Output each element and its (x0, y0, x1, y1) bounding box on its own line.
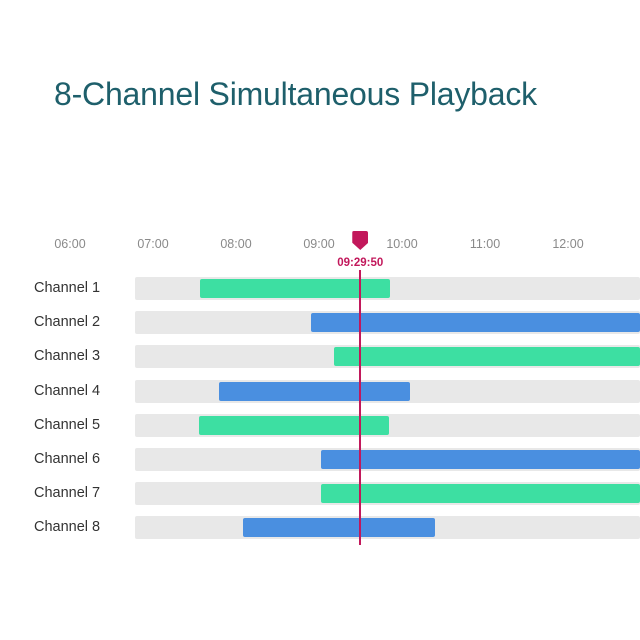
channel-row[interactable]: Channel 4 (0, 377, 640, 407)
recording-segment[interactable] (334, 347, 640, 366)
channel-row[interactable]: Channel 6 (0, 445, 640, 475)
channel-label: Channel 1 (34, 280, 100, 296)
channel-label: Channel 5 (34, 417, 100, 433)
channel-row[interactable]: Channel 2 (0, 308, 640, 338)
channel-label: Channel 3 (34, 348, 100, 364)
recording-segment[interactable] (200, 279, 390, 298)
timeline-chart: 06:0007:0008:0009:0010:0011:0012:00 09:2… (0, 0, 640, 640)
channel-label: Channel 2 (34, 314, 100, 330)
playhead-line[interactable] (359, 270, 361, 545)
time-tick-label: 09:00 (303, 237, 334, 251)
playhead-marker-icon[interactable] (352, 231, 368, 250)
recording-segment[interactable] (243, 518, 436, 537)
playhead-time-label: 09:29:50 (337, 257, 383, 269)
recording-segment[interactable] (321, 450, 640, 469)
channel-row[interactable]: Channel 7 (0, 479, 640, 509)
channel-row[interactable]: Channel 5 (0, 411, 640, 441)
playhead-shield-shape (352, 231, 368, 250)
channel-label: Channel 7 (34, 485, 100, 501)
channel-label: Channel 8 (34, 519, 100, 535)
time-tick-label: 06:00 (54, 237, 85, 251)
channel-row[interactable]: Channel 3 (0, 342, 640, 372)
channel-row[interactable]: Channel 1 (0, 274, 640, 304)
time-tick-label: 08:00 (220, 237, 251, 251)
recording-segment[interactable] (219, 382, 411, 401)
time-tick-label: 10:00 (386, 237, 417, 251)
channel-label: Channel 6 (34, 451, 100, 467)
time-tick-label: 12:00 (552, 237, 583, 251)
recording-segment[interactable] (321, 484, 640, 503)
playback-timeline-panel: 8-Channel Simultaneous Playback 06:0007:… (0, 0, 640, 640)
channel-row[interactable]: Channel 8 (0, 513, 640, 543)
time-tick-label: 07:00 (137, 237, 168, 251)
time-tick-label: 11:00 (470, 237, 500, 251)
channel-label: Channel 4 (34, 383, 100, 399)
